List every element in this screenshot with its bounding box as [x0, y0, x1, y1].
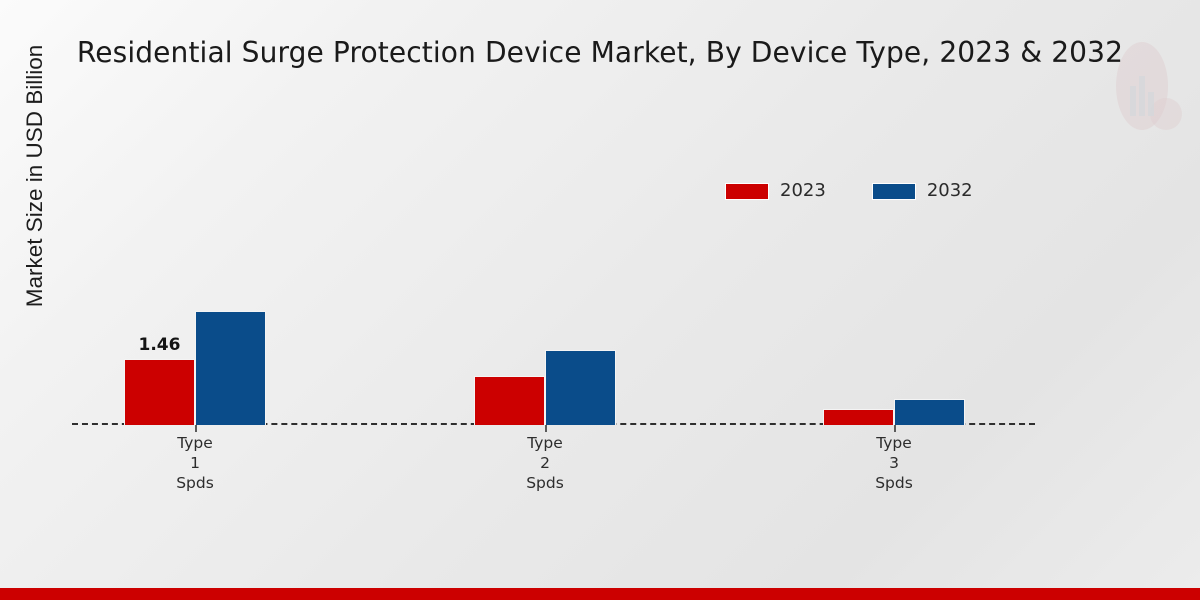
- legend-item-2032[interactable]: 2032: [872, 182, 973, 200]
- x-label-type-3-line-1: Type: [875, 433, 913, 453]
- x-label-type-2: Type 2 Spds: [526, 433, 564, 493]
- legend-item-2023[interactable]: 2023: [725, 182, 826, 200]
- x-label-type-1: Type 1 Spds: [176, 433, 214, 493]
- chart-title: Residential Surge Protection Device Mark…: [9, 36, 1191, 69]
- bar-2032-type-2[interactable]: [545, 350, 616, 425]
- bar-2023-type-2[interactable]: [474, 376, 545, 425]
- bar-2032-type-3[interactable]: [894, 399, 965, 425]
- x-tick-type-1: [195, 425, 197, 432]
- x-label-type-1-line-1: Type: [176, 433, 214, 453]
- bar-value-label-2023-type-1: 1.46: [139, 335, 181, 355]
- bottom-accent-bar: [0, 588, 1200, 600]
- chart-canvas: Residential Surge Protection Device Mark…: [0, 0, 1200, 600]
- bar-2023-type-3[interactable]: [823, 409, 894, 425]
- plot-area: 1.46 Type 1 Spds Type 2: [72, 250, 1035, 425]
- x-label-type-1-line-3: Spds: [176, 473, 214, 493]
- x-label-type-2-line-2: 2: [526, 453, 564, 473]
- x-label-type-1-line-2: 1: [176, 453, 214, 473]
- x-label-type-2-line-3: Spds: [526, 473, 564, 493]
- bar-2023-type-1[interactable]: 1.46: [124, 359, 195, 425]
- x-tick-type-3: [894, 425, 896, 432]
- legend-label-2023: 2023: [780, 182, 826, 200]
- chart-legend: 2023 2032: [725, 182, 973, 200]
- x-label-type-3-line-2: 3: [875, 453, 913, 473]
- legend-label-2032: 2032: [927, 182, 973, 200]
- legend-swatch-2032: [872, 183, 916, 200]
- x-tick-type-2: [545, 425, 547, 432]
- y-axis-title: Market Size in USD Billion: [22, 0, 48, 366]
- x-label-type-3: Type 3 Spds: [875, 433, 913, 493]
- legend-swatch-2023: [725, 183, 769, 200]
- bar-2032-type-1[interactable]: [195, 311, 266, 425]
- x-label-type-3-line-3: Spds: [875, 473, 913, 493]
- x-label-type-2-line-1: Type: [526, 433, 564, 453]
